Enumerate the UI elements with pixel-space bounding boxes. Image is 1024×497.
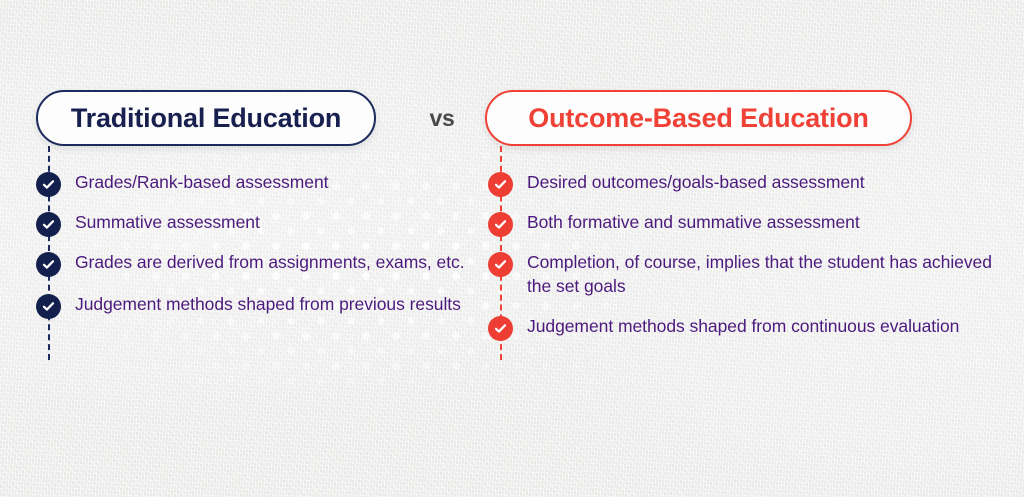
list-item: Desired outcomes/goals-based assessment: [488, 170, 993, 196]
list-item: Grades are derived from assignments, exa…: [36, 250, 476, 276]
check-circle-icon: [488, 252, 513, 277]
comparison-column-outcome-based-education: Desired outcomes/goals-based assessment …: [488, 146, 993, 356]
check-circle-icon: [36, 212, 61, 237]
header-pill-label-right: Outcome-Based Education: [528, 105, 868, 132]
list-item-text: Judgement methods shaped from continuous…: [527, 314, 959, 338]
list-item: Judgement methods shaped from previous r…: [36, 292, 476, 318]
versus-label: vs: [404, 105, 480, 132]
infographic-canvas: Traditional Education vs Outcome-Based E…: [0, 0, 1024, 497]
list-item-text: Both formative and summative assessment: [527, 210, 860, 234]
check-circle-icon: [488, 316, 513, 341]
check-circle-icon: [36, 172, 61, 197]
list-item-text: Summative assessment: [75, 210, 260, 234]
check-circle-icon: [36, 294, 61, 319]
feature-list-outcome-based-education: Desired outcomes/goals-based assessment …: [488, 170, 993, 340]
comparison-column-traditional-education: Grades/Rank-based assessment Summative a…: [36, 146, 476, 334]
list-item: Judgement methods shaped from continuous…: [488, 314, 993, 340]
check-circle-icon: [488, 212, 513, 237]
list-item-text: Judgement methods shaped from previous r…: [75, 292, 461, 316]
list-item: Completion, of course, implies that the …: [488, 250, 993, 298]
list-item-text: Grades are derived from assignments, exa…: [75, 250, 465, 274]
list-item: Both formative and summative assessment: [488, 210, 993, 236]
header-pill-traditional-education: Traditional Education: [36, 90, 376, 146]
list-item-text: Desired outcomes/goals-based assessment: [527, 170, 865, 194]
list-item-text: Grades/Rank-based assessment: [75, 170, 328, 194]
list-item: Grades/Rank-based assessment: [36, 170, 476, 196]
header-pill-label-left: Traditional Education: [71, 105, 341, 132]
check-circle-icon: [36, 252, 61, 277]
list-item: Summative assessment: [36, 210, 476, 236]
check-circle-icon: [488, 172, 513, 197]
list-item-text: Completion, of course, implies that the …: [527, 250, 993, 298]
feature-list-traditional-education: Grades/Rank-based assessment Summative a…: [36, 170, 476, 318]
header-pill-outcome-based-education: Outcome-Based Education: [485, 90, 912, 146]
